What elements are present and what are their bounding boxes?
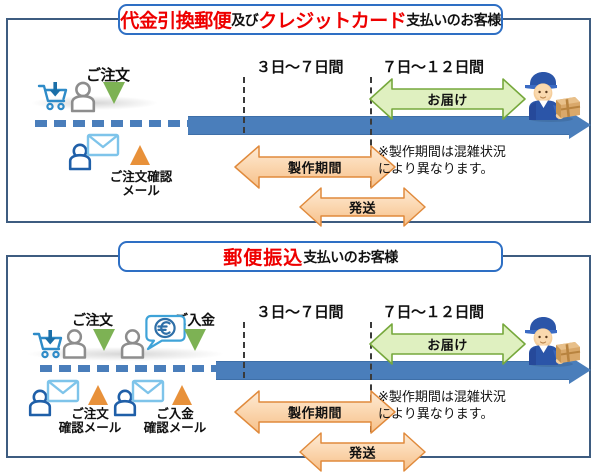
delivery-person-package-icon	[520, 70, 582, 122]
panel-postal-transfer: 郵便振込支払いのお客様 ご注文 ご入金	[6, 255, 591, 458]
green-down-triangle-icon	[184, 329, 206, 351]
period-delivery-label: ７日〜１２日間	[382, 56, 484, 77]
order-confirm-mail-line1: ご注文確認	[93, 170, 189, 184]
shipping-arrow: 発送	[300, 186, 425, 228]
green-down-triangle-icon	[103, 82, 125, 104]
delivery-arrow: お届け	[370, 77, 525, 121]
period-delivery-label: ７日〜１２日間	[382, 301, 484, 322]
order-confirm-mail-line2: メール	[93, 184, 189, 198]
title2-segment-red-1: 郵便振込	[223, 243, 303, 270]
order-confirm-mail-line2: 確認メール	[48, 421, 132, 435]
order-label: ご注文	[72, 310, 113, 330]
green-down-triangle-icon	[93, 329, 115, 351]
payment-confirm-mail-line1: ご入金	[133, 407, 217, 421]
payment-confirm-mail-line2: 確認メール	[133, 421, 217, 435]
delivery-person-package-icon	[520, 315, 582, 367]
production-note-line2: により異なります。	[378, 161, 506, 178]
timeline-dashed-segment	[35, 120, 190, 127]
panel-title-cod-credit: 代金引換郵便及びクレジットカード支払いのお客様	[118, 4, 503, 35]
production-note-line2: により異なります。	[378, 406, 506, 423]
delivery-arrow: お届け	[370, 322, 525, 366]
order-confirm-mail-line1: ご注文	[48, 407, 132, 421]
title-segment-red-2: クレジットカード	[258, 6, 406, 33]
person-gray-icon	[69, 81, 97, 112]
production-note-line1: ※製作期間は混雑状況	[378, 144, 506, 161]
tick-production-start	[243, 322, 245, 378]
orange-up-triangle-icon	[88, 385, 108, 405]
person-envelope-icon	[68, 133, 120, 169]
production-arrow: 製作期間	[235, 144, 395, 190]
title-segment-black-1: 及び	[231, 10, 258, 30]
title-segment-red-1: 代金引換郵便	[120, 6, 231, 33]
orange-up-triangle-icon	[172, 385, 192, 405]
timeline-dashed-segment	[40, 365, 218, 372]
payment-confirm-mail-label: ご入金 確認メール	[133, 407, 217, 435]
production-note: ※製作期間は混雑状況 により異なります。	[378, 144, 506, 178]
period-production-label: ３日〜７日間	[256, 301, 343, 322]
person-gray-icon	[61, 328, 88, 359]
shipping-arrow: 発送	[300, 431, 425, 473]
production-note: ※製作期間は混雑状況 により異なります。	[378, 389, 506, 423]
order-confirm-mail-label: ご注文確認 メール	[93, 170, 189, 198]
tick-production-start	[243, 77, 245, 133]
title-segment-black-2: 支払いのお客様	[406, 10, 501, 30]
order-confirm-mail-label: ご注文 確認メール	[48, 407, 132, 435]
orange-up-triangle-icon	[130, 145, 150, 165]
shopping-cart-icon	[37, 81, 71, 111]
production-note-line1: ※製作期間は混雑状況	[378, 389, 506, 406]
title2-segment-black-1: 支払いのお客様	[303, 247, 398, 267]
panel-cod-credit: 代金引換郵便及びクレジットカード支払いのお客様 ご注文	[6, 18, 591, 223]
panel-title-postal-transfer: 郵便振込支払いのお客様	[118, 241, 503, 272]
period-production-label: ３日〜７日間	[256, 56, 343, 77]
production-arrow: 製作期間	[235, 389, 395, 435]
euro-speech-bubble-icon	[142, 314, 186, 354]
